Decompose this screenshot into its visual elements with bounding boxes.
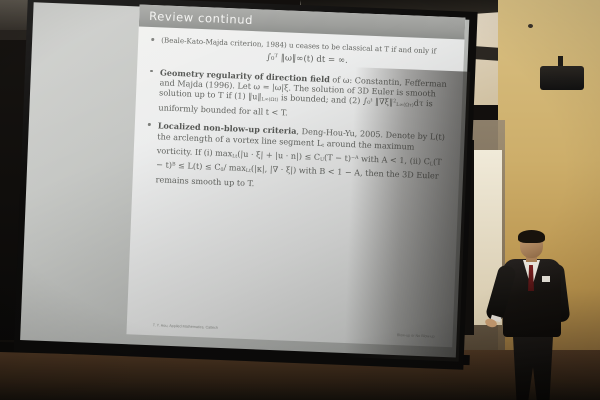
presenter bbox=[492, 232, 578, 400]
ceiling-fixture bbox=[528, 24, 533, 28]
bullet-3-part6: (T − t) bbox=[324, 152, 351, 163]
bullet-2-sub1: L∞(Ωt) bbox=[261, 98, 278, 104]
footer-author: T. Y. Hou, Applied Mathematics, Caltech bbox=[153, 323, 218, 330]
presenter-pocket-square bbox=[542, 276, 550, 282]
bullet-beale-kato-majda: (Beale-Kato-Majda criterion, 1984) u cea… bbox=[148, 35, 455, 71]
presenter-hair bbox=[518, 230, 545, 243]
bullet-3-part11: / max bbox=[223, 162, 246, 173]
bullet-2-part4: is bounded; and bbox=[278, 93, 346, 106]
lecture-room-photo: Review continud (Beale-Kato-Majda criter… bbox=[0, 0, 600, 400]
bullet-3-part12: (|κ|, |∇ · ξ|) with B < 1 − A, bbox=[251, 164, 363, 178]
presenter-shadow-on-screen bbox=[344, 67, 471, 361]
presenter-legs bbox=[510, 332, 556, 400]
projection-screen: Review continud (Beale-Kato-Majda criter… bbox=[14, 0, 478, 372]
ceiling-projector bbox=[540, 66, 584, 90]
bullet-3-part4: vorticity. If (i) max bbox=[157, 145, 233, 158]
bullet-3-part10: ≤ L(t) ≤ C bbox=[175, 161, 220, 173]
bullet-3-part5: (|u · ξ| + |u · n|) ≤ C bbox=[237, 149, 320, 162]
